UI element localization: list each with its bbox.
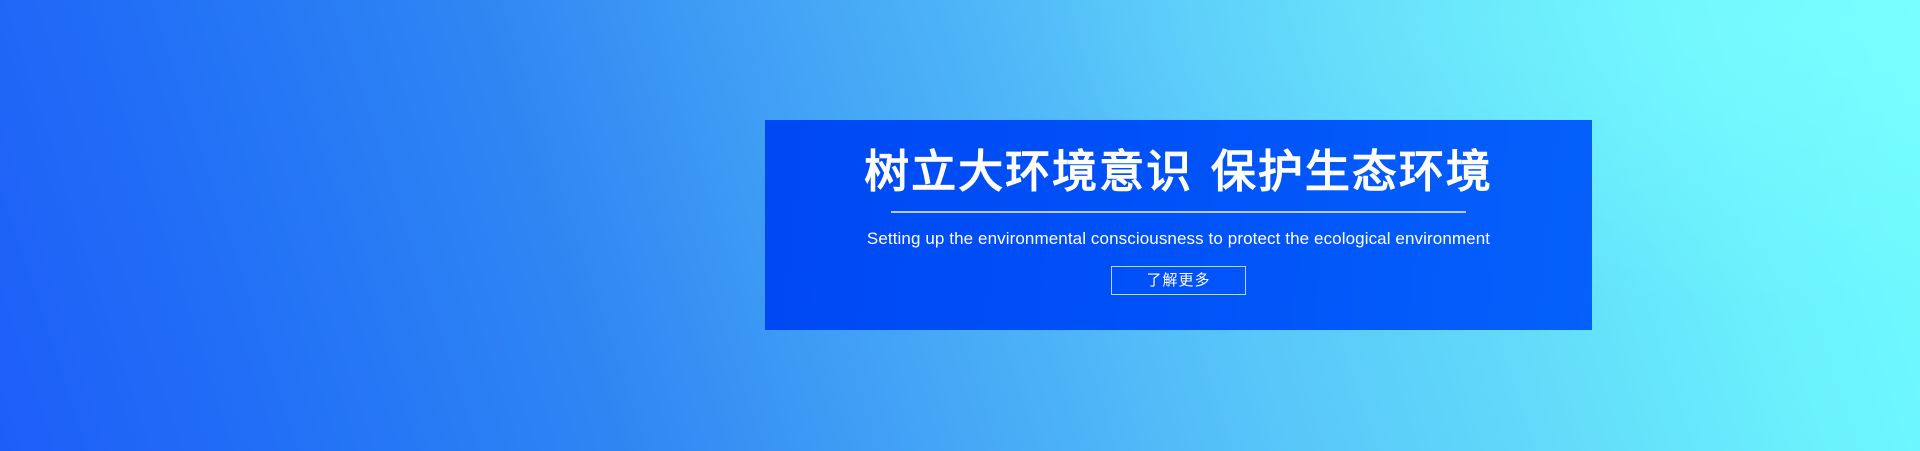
learn-more-button[interactable]: 了解更多 — [1111, 266, 1246, 295]
hero-banner: 树立大环境意识 保护生态环境 Setting up the environmen… — [0, 0, 1920, 451]
page-subtitle: Setting up the environmental consciousne… — [867, 213, 1490, 250]
page-title: 树立大环境意识 保护生态环境 — [864, 148, 1493, 197]
hero-content-panel: 树立大环境意识 保护生态环境 Setting up the environmen… — [765, 120, 1592, 330]
